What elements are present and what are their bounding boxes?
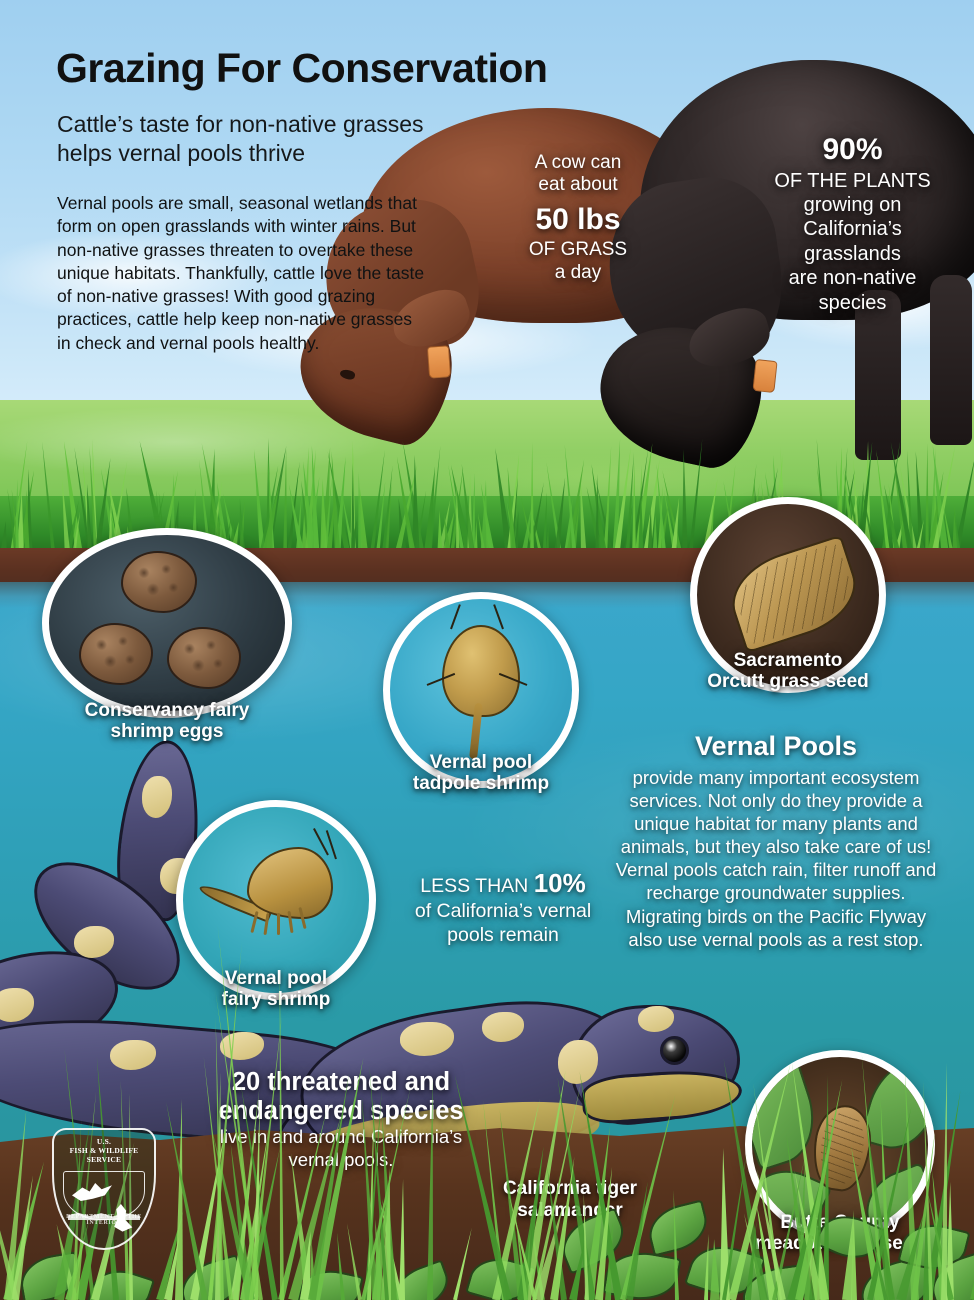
stat-less-line3: pools remain bbox=[447, 924, 559, 946]
stat-cow-line2: eat about bbox=[538, 174, 617, 195]
usfws-logo: U.S. FISH & WILDLIFE SERVICE DEPARTMENT … bbox=[52, 1128, 156, 1250]
ear-tag-icon bbox=[427, 345, 451, 378]
intro-paragraph: Vernal pools are small, seasonal wetland… bbox=[57, 192, 427, 355]
inset-sacramento-orcutt-grass-seed bbox=[690, 497, 886, 693]
stat-cow-amount: 50 lbs bbox=[503, 202, 653, 237]
antenna bbox=[450, 604, 461, 629]
stat-pools-remain: LESS THAN 10% of California’s vernal poo… bbox=[400, 868, 606, 947]
logo-line1: U.S. bbox=[97, 1137, 111, 1146]
inset-conservancy-fairy-shrimp-eggs bbox=[42, 528, 292, 718]
salamander-eye bbox=[660, 1036, 689, 1065]
stat-less-line2: of California’s vernal bbox=[415, 900, 591, 922]
stat-plants-line1: OF THE PLANTS bbox=[745, 169, 960, 193]
page-subtitle: Cattle’s taste for non-native grasses he… bbox=[57, 110, 477, 168]
inset-vernal-pool-fairy-shrimp bbox=[176, 800, 376, 1000]
stat-plants-percent: 90% bbox=[745, 132, 960, 169]
vernal-pools-panel: Vernal Pools provide many important ecos… bbox=[608, 730, 944, 951]
stat-plants-line4: grasslands bbox=[804, 243, 901, 265]
stat-less-prefix: LESS THAN bbox=[420, 875, 533, 897]
page-title: Grazing For Conservation bbox=[56, 47, 547, 90]
stat-plants-line3: California’s bbox=[803, 218, 902, 240]
fairy-shrimp-body bbox=[247, 847, 333, 919]
shrimp-egg bbox=[79, 623, 153, 685]
grass-blade bbox=[925, 443, 929, 560]
logo-line2: FISH & WILDLIFE bbox=[70, 1146, 139, 1155]
foreground-grass-blade bbox=[399, 1179, 406, 1300]
shrimp-egg bbox=[167, 627, 241, 689]
grass-blade bbox=[357, 472, 362, 560]
stat-non-native-plants: 90% OF THE PLANTS growing on California’… bbox=[745, 132, 960, 315]
stat-plants-line6: species bbox=[819, 292, 887, 314]
foreground-grass-blade bbox=[709, 1239, 720, 1300]
inset-vernal-pool-tadpole-shrimp bbox=[383, 592, 579, 788]
stat-plants-line2: growing on bbox=[804, 194, 902, 216]
vernal-pools-heading: Vernal Pools bbox=[608, 730, 944, 764]
logo-text: U.S. FISH & WILDLIFE SERVICE bbox=[52, 1138, 156, 1165]
vernal-pools-body: provide many important ecosystem service… bbox=[616, 767, 937, 950]
stat-cow-line3: OF GRASS bbox=[503, 239, 653, 261]
stat-cow-grass: A cow can eat about 50 lbs OF GRASS a da… bbox=[503, 152, 653, 284]
ear-tag-icon bbox=[752, 359, 777, 393]
grass-blade bbox=[530, 442, 534, 560]
fairy-shrimp-leg bbox=[277, 913, 280, 935]
grass-seed-shape bbox=[721, 535, 867, 654]
infographic-poster: Grazing For Conservation Cattle’s taste … bbox=[0, 0, 974, 1300]
stat-plants-line5: are non-native bbox=[789, 267, 917, 289]
antenna bbox=[493, 604, 504, 629]
stat-cow-line4: a day bbox=[555, 262, 601, 283]
logo-line3: SERVICE bbox=[87, 1155, 121, 1164]
stat-less-percent: 10% bbox=[534, 868, 586, 898]
stat-cow-line1: A cow can bbox=[535, 152, 622, 173]
shrimp-egg bbox=[121, 551, 197, 613]
logo-arc-text: DEPARTMENT OF THE INTERIOR bbox=[60, 1214, 148, 1242]
grass-blade bbox=[351, 463, 355, 560]
grass-blade bbox=[681, 449, 688, 560]
